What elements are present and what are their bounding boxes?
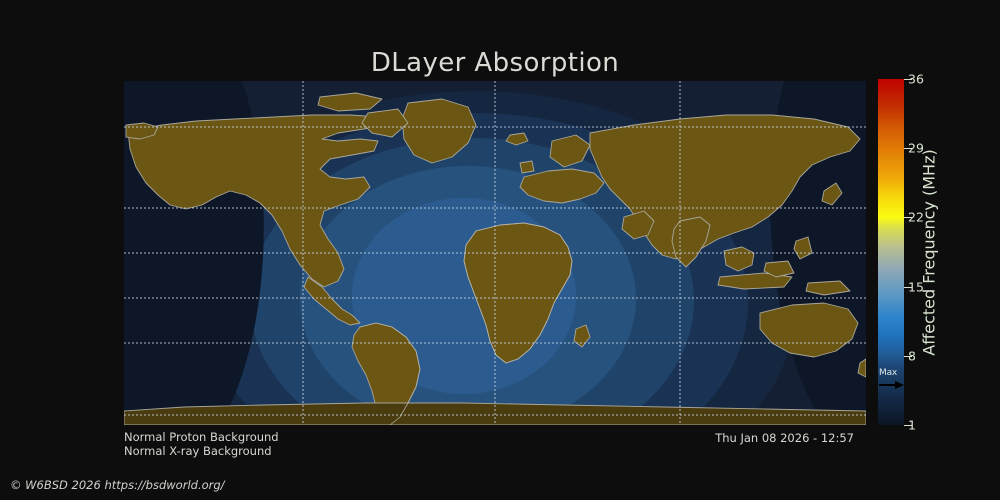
timestamp: Thu Jan 08 2026 - 12:57 [715, 431, 854, 445]
dlayer-absorption-plot: DLayer Absorption [0, 0, 1000, 500]
page-title: DLayer Absorption [124, 48, 866, 78]
colorbar-max-marker: Max [878, 369, 904, 391]
colorbar-axis-label: Affected Frequency (MHz) [915, 79, 943, 425]
colorbar-axis-label-text: Affected Frequency (MHz) [920, 149, 939, 355]
map-canvas [124, 81, 866, 425]
max-arrow-icon [879, 381, 904, 389]
land-uk [520, 161, 534, 173]
world-map [124, 81, 866, 425]
status-proton-background: Normal Proton Background [124, 430, 279, 444]
colorbar-max-label: Max [879, 368, 897, 378]
credit-line: © W6BSD 2026 https://bsdworld.org/ [10, 478, 225, 492]
status-xray-background: Normal X-ray Background [124, 444, 272, 458]
